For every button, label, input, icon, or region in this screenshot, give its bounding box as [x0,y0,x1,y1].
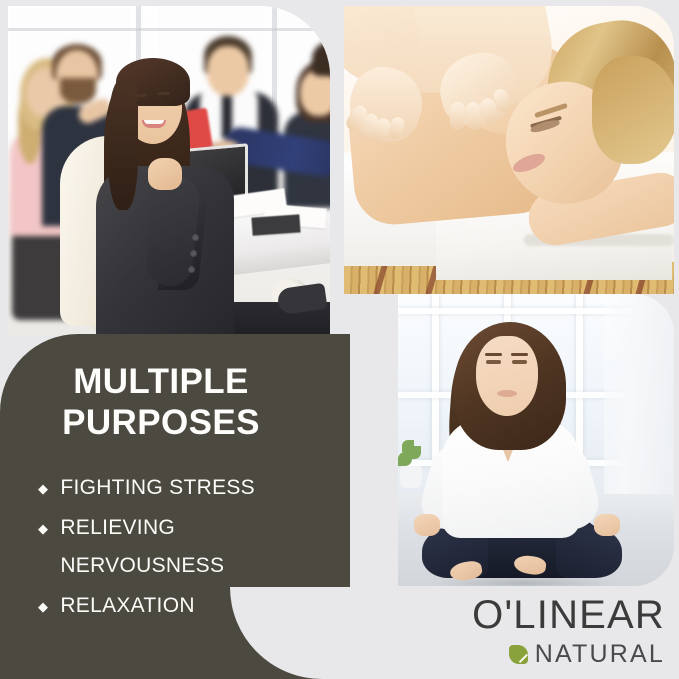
benefits-list: ◆ FIGHTING STRESS ◆ RELIEVING NERVOUSNES… [38,477,328,616]
window-mullion [8,28,330,31]
brand-name: O'LINEAR [472,595,665,635]
office-scene [8,6,330,336]
benefits-panel-content: MULTIPLE PURPOSES ◆ FIGHTING STRESS ◆ RE… [0,334,350,679]
blazer-button [188,266,195,273]
benefit-line: NERVOUSNESS [60,555,224,576]
diamond-bullet-icon: ◆ [38,482,48,495]
document-sheet [251,214,300,235]
photo-spa-massage [344,6,674,294]
person-eyebrow [485,353,502,356]
person-teeth [144,120,164,124]
benefit-label: FIGHTING STRESS [60,477,255,498]
list-item: ◆ RELIEVING NERVOUSNESS [38,517,328,576]
benefit-line: FIGHTING STRESS [60,477,255,498]
meditation-scene [398,294,674,586]
headline-line-1: MULTIPLE [38,362,284,403]
list-item: ◆ FIGHTING STRESS [38,477,328,498]
person-closed-eye [512,360,527,364]
person-hand [148,158,182,190]
person-hand [414,514,440,536]
person-eyebrow [157,92,170,95]
headline-line-2: PURPOSES [38,403,284,444]
list-item: ◆ RELAXATION [38,595,328,616]
benefit-label: RELAXATION [60,595,194,616]
benefit-label: RELIEVING NERVOUSNESS [60,517,224,576]
benefit-line: RELIEVING [60,517,224,538]
person-face [476,336,538,416]
promo-image-canvas: MULTIPLE PURPOSES ◆ FIGHTING STRESS ◆ RE… [0,0,679,679]
blazer-button [190,250,197,257]
person-eye [136,101,145,105]
person-closed-eye [486,360,501,364]
person-hand [594,514,620,536]
leaf-icon [509,645,528,664]
photo-meditation [398,294,674,586]
diamond-bullet-icon: ◆ [38,522,48,535]
benefits-panel: MULTIPLE PURPOSES ◆ FIGHTING STRESS ◆ RE… [0,334,350,679]
plant-leaf [402,440,414,452]
person-lips [497,390,517,397]
blazer-button [192,234,199,241]
client-hair-back [592,56,674,164]
person-eye [158,99,167,103]
spa-scene [344,6,674,294]
benefit-line: RELAXATION [60,595,194,616]
brand-logo: O'LINEAR NATURAL [472,595,665,667]
person-hair-side [108,80,138,210]
brand-tagline: NATURAL [535,642,665,667]
page-title: MULTIPLE PURPOSES [38,362,328,443]
bamboo-stripe [373,262,388,294]
brand-tagline-row: NATURAL [472,642,665,667]
diamond-bullet-icon: ◆ [38,600,48,613]
curtain [604,294,674,524]
plant-pot [400,466,422,488]
photo-office-meeting [8,6,330,336]
person-eyebrow [511,353,528,356]
